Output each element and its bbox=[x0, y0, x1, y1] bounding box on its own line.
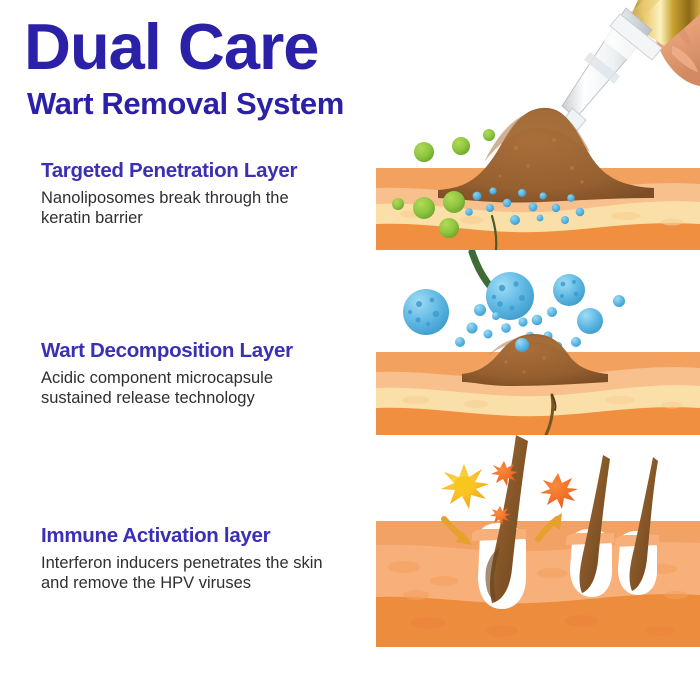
text-column: Dual Care Wart Removal System Targeted P… bbox=[0, 0, 376, 700]
section-body: Interferon inducers penetrates the skin … bbox=[41, 553, 341, 594]
section-heading: Wart Decomposition Layer bbox=[41, 340, 371, 363]
illustration-wart-decomposition bbox=[376, 250, 700, 435]
illustration-column bbox=[376, 0, 700, 700]
green-nanoparticles bbox=[414, 129, 495, 162]
section-heading: Immune Activation layer bbox=[41, 525, 371, 548]
page-title: Dual Care bbox=[24, 14, 318, 79]
section-heading: Targeted Penetration Layer bbox=[41, 160, 371, 183]
sun-icon bbox=[441, 464, 489, 509]
wart-mound bbox=[438, 108, 654, 203]
star-icon bbox=[540, 473, 578, 509]
section-targeted-penetration: Targeted Penetration Layer Nanoliposomes… bbox=[41, 160, 371, 229]
dropper-pipette bbox=[561, 8, 662, 134]
section-body: Nanoliposomes break through the keratin … bbox=[41, 188, 341, 229]
section-body: Acidic component microcapsule sustained … bbox=[41, 368, 341, 409]
illustration-immune-activation bbox=[376, 435, 700, 647]
section-immune-activation: Immune Activation layer Interferon induc… bbox=[41, 525, 371, 594]
infographic-root: Dual Care Wart Removal System Targeted P… bbox=[0, 0, 700, 700]
illustration-targeted-penetration bbox=[376, 0, 700, 250]
page-subtitle: Wart Removal System bbox=[27, 88, 344, 119]
section-wart-decomposition: Wart Decomposition Layer Acidic componen… bbox=[41, 340, 371, 409]
